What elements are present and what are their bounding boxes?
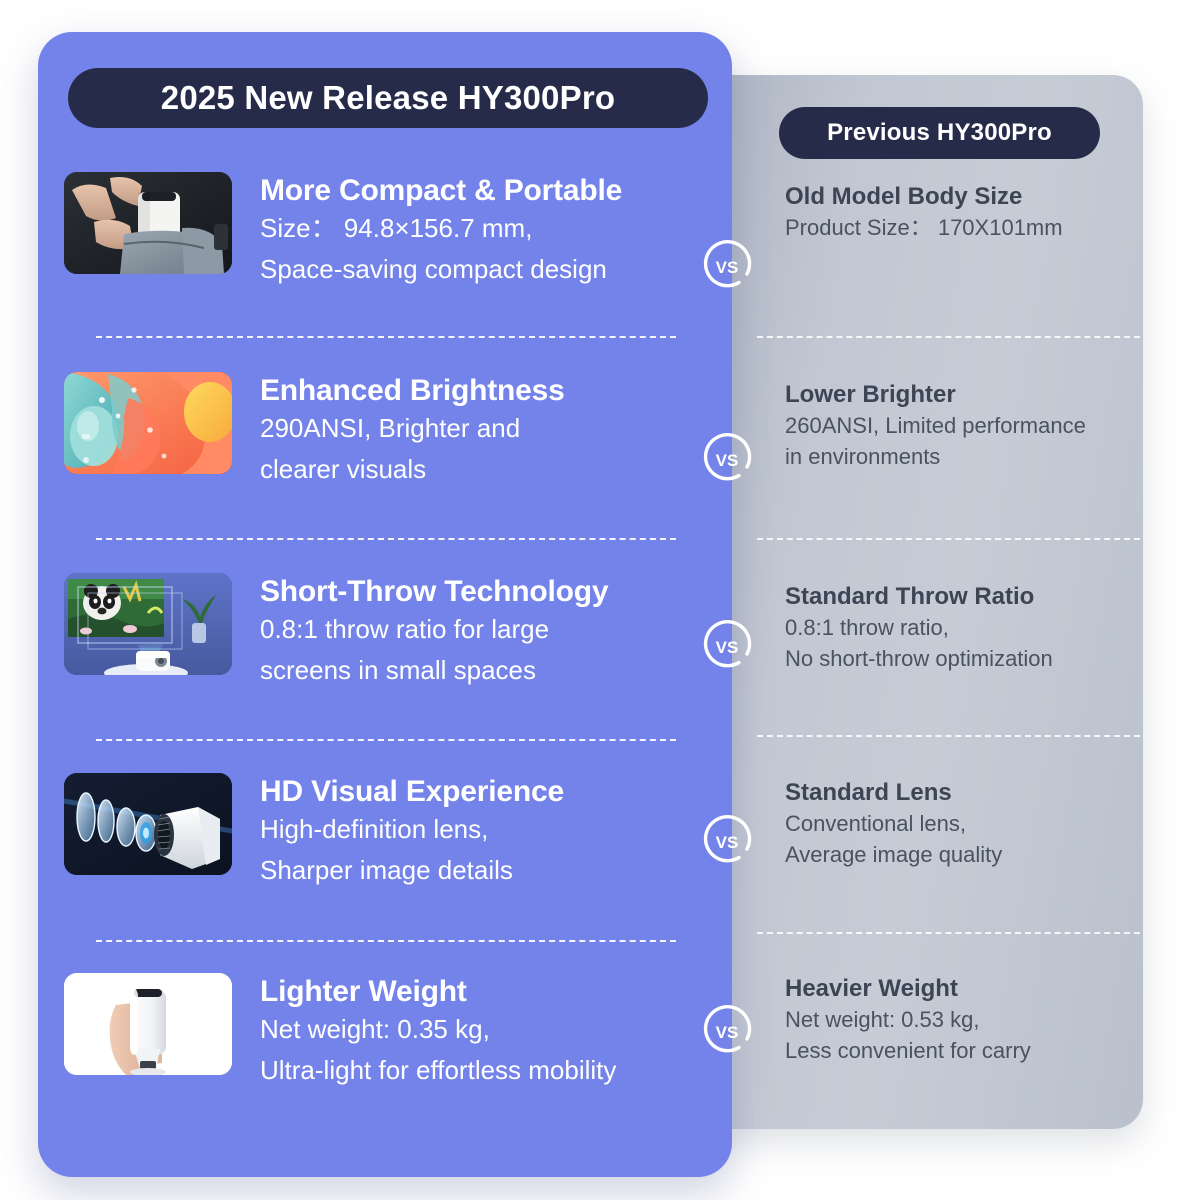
previous-model-title: Previous HY300Pro: [827, 119, 1052, 147]
new-row-line1: 290ANSI, Brighter and: [260, 408, 565, 449]
old-row-line2: No short-throw optimization: [785, 643, 1135, 674]
new-row-line2: Sharper image details: [260, 850, 564, 891]
old-row-line2: Average image quality: [785, 839, 1135, 870]
new-row-title: Enhanced Brightness: [260, 374, 565, 408]
old-row-line1: Conventional lens,: [785, 808, 1135, 839]
svg-text:VS: VS: [716, 638, 739, 657]
svg-text:VS: VS: [716, 833, 739, 852]
old-row-title: Standard Lens: [785, 779, 1135, 808]
new-row-line1: High-definition lens,: [260, 809, 564, 850]
old-row-weight: Heavier Weight Net weight: 0.53 kg, Less…: [785, 975, 1135, 1067]
old-row-lens: Standard Lens Conventional lens, Average…: [785, 779, 1135, 871]
old-row-title: Old Model Body Size: [785, 183, 1135, 212]
old-row-title: Heavier Weight: [785, 975, 1135, 1004]
old-row-brightness: Lower Brighter 260ANSI, Limited performa…: [785, 381, 1135, 473]
comparison-infographic: Previous HY300Pro 2025 New Release HY300…: [0, 0, 1200, 1200]
hand-holding-projector-photo: [64, 973, 232, 1075]
old-row-line2: Less convenient for carry: [785, 1035, 1135, 1066]
new-divider: [96, 739, 676, 741]
new-row-title: HD Visual Experience: [260, 775, 564, 809]
new-row-compact: More Compact & Portable Size： 94.8×156.7…: [64, 172, 688, 290]
new-row-text: Short-Throw Technology 0.8:1 throw ratio…: [260, 573, 608, 691]
new-row-line2: Space-saving compact design: [260, 249, 622, 290]
svg-text:VS: VS: [716, 451, 739, 470]
old-divider: [757, 538, 1140, 540]
new-row-line2: Ultra-light for effortless mobility: [260, 1050, 616, 1091]
new-row-line1: 0.8:1 throw ratio for large: [260, 609, 608, 650]
vs-badge-icon: VS: [698, 617, 756, 675]
old-row-line1: 0.8:1 throw ratio,: [785, 612, 1135, 643]
projector-panda-screen-photo: [64, 573, 232, 675]
old-row-title: Lower Brighter: [785, 381, 1135, 410]
new-divider: [96, 538, 676, 540]
old-row-body-size: Old Model Body Size Product Size： 170X10…: [785, 183, 1135, 243]
new-row-line1: Size： 94.8×156.7 mm,: [260, 208, 622, 249]
new-row-text: Enhanced Brightness 290ANSI, Brighter an…: [260, 372, 565, 490]
vs-badge-icon: VS: [698, 812, 756, 870]
svg-text:VS: VS: [716, 258, 739, 277]
new-model-title: 2025 New Release HY300Pro: [161, 79, 615, 117]
vs-badge-icon: VS: [698, 430, 756, 488]
new-row-title: Short-Throw Technology: [260, 575, 608, 609]
new-row-lighter-weight: Lighter Weight Net weight: 0.35 kg, Ultr…: [64, 973, 688, 1091]
old-divider: [757, 735, 1140, 737]
new-row-text: HD Visual Experience High-definition len…: [260, 773, 564, 891]
old-row-throw-ratio: Standard Throw Ratio 0.8:1 throw ratio, …: [785, 583, 1135, 675]
new-row-title: More Compact & Portable: [260, 174, 622, 208]
new-row-text: More Compact & Portable Size： 94.8×156.7…: [260, 172, 622, 290]
old-divider: [757, 932, 1140, 934]
new-row-line2: screens in small spaces: [260, 650, 608, 691]
svg-text:VS: VS: [716, 1023, 739, 1042]
new-divider: [96, 940, 676, 942]
old-row-title: Standard Throw Ratio: [785, 583, 1135, 612]
old-divider: [757, 336, 1140, 338]
new-row-title: Lighter Weight: [260, 975, 616, 1009]
old-row-line1: 260ANSI, Limited performance: [785, 410, 1135, 441]
new-divider: [96, 336, 676, 338]
new-row-text: Lighter Weight Net weight: 0.35 kg, Ultr…: [260, 973, 616, 1091]
new-row-line2: clearer visuals: [260, 449, 565, 490]
vs-badge-icon: VS: [698, 237, 756, 295]
old-row-line2: in environments: [785, 441, 1135, 472]
colorful-flower-visual-photo: [64, 372, 232, 474]
vs-badge-icon: VS: [698, 1002, 756, 1060]
new-row-short-throw: Short-Throw Technology 0.8:1 throw ratio…: [64, 573, 688, 691]
new-row-brightness: Enhanced Brightness 290ANSI, Brighter an…: [64, 372, 688, 490]
new-model-title-pill: 2025 New Release HY300Pro: [68, 68, 708, 128]
projector-in-backpack-photo: [64, 172, 232, 274]
exploded-lens-elements-photo: [64, 773, 232, 875]
old-row-line1: Net weight: 0.53 kg,: [785, 1004, 1135, 1035]
previous-model-title-pill: Previous HY300Pro: [779, 107, 1100, 159]
new-row-hd-visual: HD Visual Experience High-definition len…: [64, 773, 688, 891]
new-row-line1: Net weight: 0.35 kg,: [260, 1009, 616, 1050]
old-row-line1: Product Size： 170X101mm: [785, 212, 1135, 243]
